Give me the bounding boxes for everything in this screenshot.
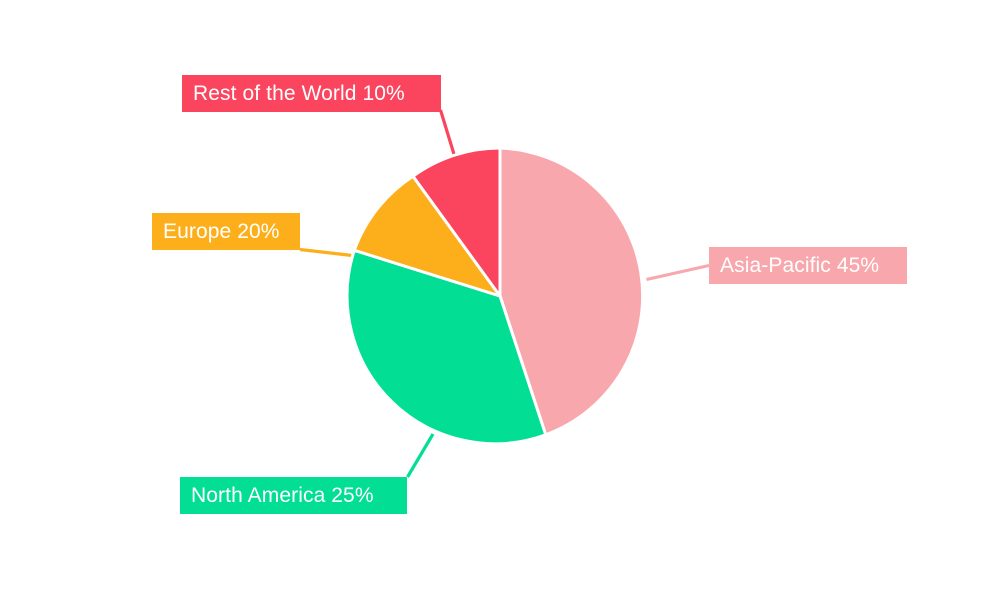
slice-label-europe[interactable]: Europe 20%	[152, 213, 300, 250]
slice-label-text-asia-pacific: Asia-Pacific 45%	[720, 255, 879, 276]
slice-label-text-rest-of-the-world: Rest of the World 10%	[193, 83, 405, 104]
leader-line-rest-of-the-world	[441, 110, 456, 158]
slice-label-rest-of-the-world[interactable]: Rest of the World 10%	[182, 75, 441, 112]
pie-slice-group	[347, 148, 643, 444]
slice-label-asia-pacific[interactable]: Asia-Pacific 45%	[709, 247, 907, 284]
slice-label-text-europe: Europe 20%	[163, 221, 280, 242]
pie-chart-svg	[0, 0, 1000, 600]
leader-line-north-america	[408, 434, 434, 477]
slice-label-text-north-america: North America 25%	[191, 485, 374, 506]
pie-chart-canvas: Asia-Pacific 45% North America 25% Europ…	[0, 0, 1000, 600]
leader-line-asia-pacific	[647, 266, 710, 280]
leader-line-europe	[300, 250, 357, 257]
slice-label-north-america[interactable]: North America 25%	[180, 477, 407, 514]
